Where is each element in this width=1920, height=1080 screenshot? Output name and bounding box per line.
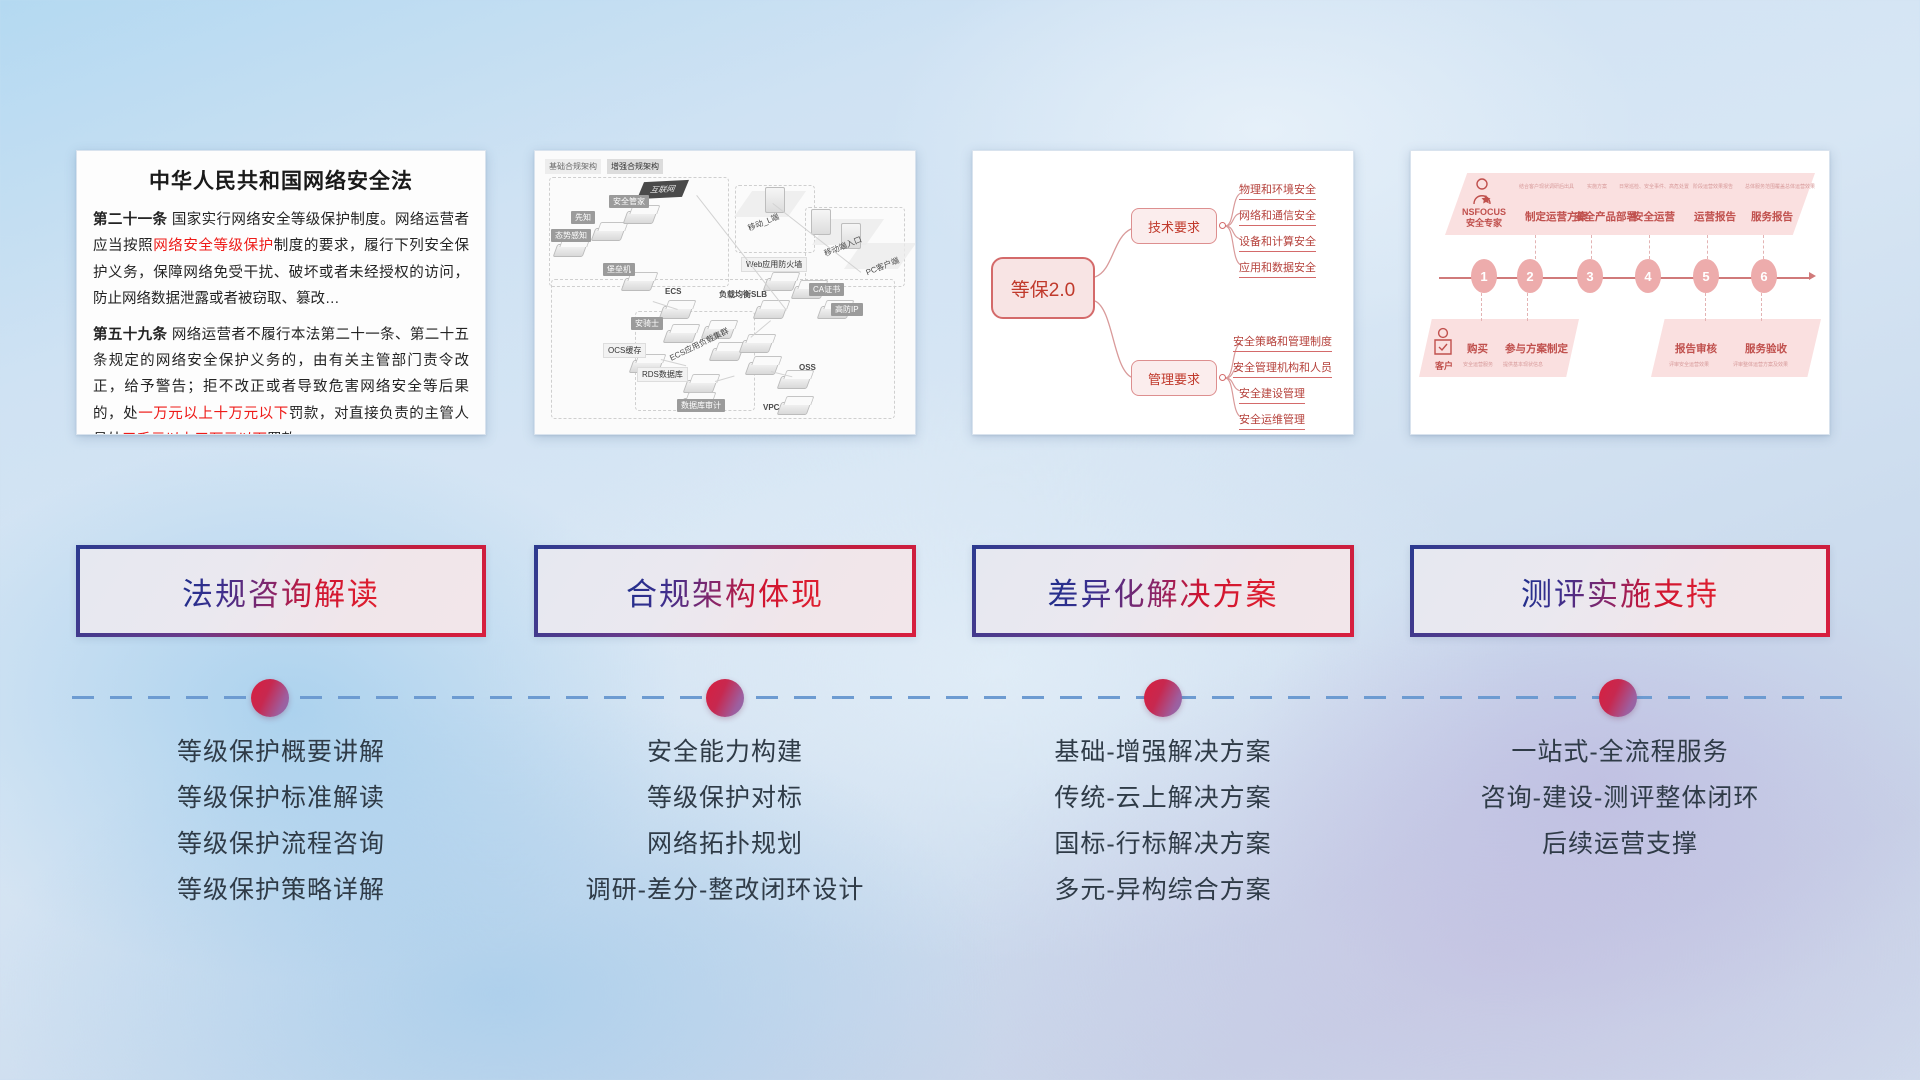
icon-ecs-node-c: [741, 333, 771, 355]
section-title-box-2[interactable]: 合规架构体现: [534, 545, 916, 637]
tab-basic-architecture[interactable]: 基础合规架构: [545, 159, 601, 174]
timeline-node-6[interactable]: 6: [1751, 259, 1777, 293]
label-ca-cert: CA证书: [809, 283, 844, 296]
mindmap-leaf-ops-mgmt: 安全运维管理: [1239, 411, 1305, 430]
timeline-dash-5: [1707, 235, 1708, 259]
timeline-bottom-sub-6: 评审整体运营方案及效果: [1733, 361, 1788, 368]
label-bastion-host: 堡垒机: [603, 263, 635, 276]
article-21-highlight: 网络安全等级保护: [153, 238, 274, 254]
timeline-top-sub-1: 结合客户现状调研后出具: [1519, 183, 1574, 190]
icon-foresight: [593, 221, 623, 243]
mindmap-leaf-build-mgmt: 安全建设管理: [1239, 385, 1305, 404]
list-item: 多元-异构综合方案: [972, 878, 1354, 903]
law-document: 中华人民共和国网络安全法 第二十一条 国家实行网络安全等级保护制度。网络运营者应…: [77, 151, 485, 435]
icon-oss: [779, 369, 809, 391]
section-title-box-4[interactable]: 测评实施支持: [1410, 545, 1830, 637]
label-oss: OSS: [799, 363, 816, 372]
timeline-marker-3[interactable]: [1144, 679, 1182, 717]
list-item: 基础-增强解决方案: [972, 740, 1354, 765]
label-db-audit: 数据库审计: [677, 399, 725, 412]
timeline-vendor-role: NSFOCUS 安全专家: [1451, 207, 1517, 230]
list-item: 调研-差分-整改闭环设计: [534, 878, 916, 903]
card-mindmap-dengbao[interactable]: 等保2.0 技术要求 物理和环境安全 网络和通信安全 设备和计算安全 应用和数据…: [972, 150, 1354, 435]
timeline-node-4[interactable]: 4: [1635, 259, 1661, 293]
expert-avatar-icon: [1469, 177, 1495, 207]
section-title-box-1[interactable]: 法规咨询解读: [76, 545, 486, 637]
label-foresight: 先知: [571, 211, 595, 224]
section-title-row: 法规咨询解读 合规架构体现 差异化解决方案 测评实施支持: [0, 545, 1920, 645]
timeline-bottom-sub-2: 提供基本现状信息: [1503, 361, 1543, 368]
timeline-bottom-sub-1: 安全运营服务: [1463, 361, 1493, 368]
mindmap-branch-management: 管理要求: [1131, 360, 1217, 396]
list-item: 国标-行标解决方案: [972, 832, 1354, 857]
timeline-marker-2[interactable]: [706, 679, 744, 717]
timeline-top-sub-4: 阶段运营效果报告: [1693, 183, 1733, 190]
label-rds: RDS数据库: [637, 367, 688, 382]
timeline-dash-2b: [1527, 293, 1528, 321]
service-timeline: NSFOCUS 安全专家 结合客户现状调研后出具 制定运营方案 实施方案 安全产…: [1411, 151, 1829, 434]
section-title-label-4: 测评实施支持: [1521, 569, 1719, 614]
article-59-label: 第五十九条: [93, 327, 167, 343]
timeline-bottom-title-5: 报告审核: [1675, 341, 1717, 356]
article-59-text-c: 罚款。: [267, 432, 311, 435]
timeline-arrow-icon: [1809, 272, 1816, 280]
list-item: 传统-云上解决方案: [972, 786, 1354, 811]
tab-enhanced-architecture[interactable]: 增强合规架构: [607, 159, 663, 174]
list-item: 等级保护策略详解: [76, 878, 486, 903]
timeline-dash-5b: [1705, 293, 1706, 321]
list-item: 咨询-建设-测评整体闭环: [1410, 786, 1830, 811]
timeline-top-sub-2: 实施方案: [1587, 183, 1607, 190]
list-item: 网络拓扑规划: [534, 832, 916, 857]
timeline-top-title-5: 服务报告: [1751, 209, 1793, 224]
timeline-bottom-title-1: 购买: [1467, 341, 1488, 356]
timeline-customer-role: 客户: [1429, 359, 1459, 372]
timeline-marker-1[interactable]: [251, 679, 289, 717]
detail-column-2: 安全能力构建 等级保护对标 网络拓扑规划 调研-差分-整改闭环设计: [534, 740, 916, 924]
card-cloud-architecture[interactable]: 基础合规架构 增强合规架构 互联网 态势感知 先知 安全管家: [534, 150, 916, 435]
label-vpc: VPC: [763, 403, 779, 412]
mindmap-leaf-network-comm: 网络和通信安全: [1239, 207, 1316, 226]
mindmap: 等保2.0 技术要求 物理和环境安全 网络和通信安全 设备和计算安全 应用和数据…: [973, 151, 1353, 434]
mindmap-knob-management[interactable]: [1219, 374, 1226, 381]
mindmap-branch-technical: 技术要求: [1131, 208, 1217, 244]
icon-ecs-node-b: [711, 341, 741, 363]
timeline-top-title-2: 安全产品部署: [1574, 209, 1637, 224]
list-item: 一站式-全流程服务: [1410, 740, 1830, 765]
list-item: 等级保护标准解读: [76, 786, 486, 811]
article-59-highlight-1: 一万元以上十万元以下: [138, 406, 289, 422]
mindmap-leaf-physical-env: 物理和环境安全: [1239, 181, 1316, 200]
mindmap-knob-technical[interactable]: [1219, 222, 1226, 229]
label-situation-awareness: 态势感知: [551, 229, 591, 242]
slide-root: 中华人民共和国网络安全法 第二十一条 国家实行网络安全等级保护制度。网络运营者应…: [0, 0, 1920, 1080]
article-59-highlight-2: 五千元以上五万元以下: [122, 432, 267, 435]
timeline-dash-6: [1763, 235, 1764, 259]
icon-vpc: [779, 395, 809, 417]
timeline-dash-6b: [1761, 293, 1762, 321]
article-21-label: 第二十一条: [93, 212, 167, 228]
timeline-node-1[interactable]: 1: [1471, 259, 1497, 293]
law-title: 中华人民共和国网络安全法: [93, 165, 469, 195]
timeline-node-2[interactable]: 2: [1517, 259, 1543, 293]
timeline-bottom-sub-5: 评审安全运营效果: [1669, 361, 1709, 368]
mindmap-leaf-org-personnel: 安全管理机构和人员: [1233, 359, 1332, 378]
timeline-top-sub-5: 总体服务范围覆盖总体运营效果: [1745, 183, 1815, 190]
mindmap-root: 等保2.0: [991, 257, 1095, 319]
detail-column-4: 一站式-全流程服务 咨询-建设-测评整体闭环 后续运营支撑: [1410, 740, 1830, 878]
label-anqishi: 安骑士: [631, 317, 663, 330]
list-item: 后续运营支撑: [1410, 832, 1830, 857]
timeline-dash-4: [1649, 235, 1650, 259]
mindmap-leaf-device-compute: 设备和计算安全: [1239, 233, 1316, 252]
card-service-timeline[interactable]: NSFOCUS 安全专家 结合客户现状调研后出具 制定运营方案 实施方案 安全产…: [1410, 150, 1830, 435]
vendor-role-line1: NSFOCUS: [1451, 207, 1517, 218]
timeline-dash-1b: [1481, 293, 1482, 321]
detail-column-3: 基础-增强解决方案 传统-云上解决方案 国标-行标解决方案 多元-异构综合方案: [972, 740, 1354, 924]
timeline-top-sub-3: 日常巡检、安全事件、高危处置: [1619, 183, 1689, 190]
label-ocs-cache: OCS缓存: [603, 343, 646, 358]
list-item: 安全能力构建: [534, 740, 916, 765]
label-security-butler: 安全管家: [609, 195, 649, 208]
timeline-bottom-title-2: 参与方案制定: [1505, 341, 1568, 356]
architecture-diagram: 基础合规架构 增强合规架构 互联网 态势感知 先知 安全管家: [535, 151, 915, 434]
section-title-label-1: 法规咨询解读: [182, 569, 380, 614]
vendor-role-line2: 安全专家: [1451, 218, 1517, 229]
timeline-node-5[interactable]: 5: [1693, 259, 1719, 293]
timeline-node-3[interactable]: 3: [1577, 259, 1603, 293]
timeline-marker-4[interactable]: [1599, 679, 1637, 717]
list-item: 等级保护概要讲解: [76, 740, 486, 765]
list-item: 等级保护对标: [534, 786, 916, 811]
icon-ecs-node-d: [747, 355, 777, 377]
timeline-top-title-3: 安全运营: [1633, 209, 1675, 224]
preview-card-row: 中华人民共和国网络安全法 第二十一条 国家实行网络安全等级保护制度。网络运营者应…: [0, 150, 1920, 440]
law-article-59: 第五十九条 网络运营者不履行本法第二十一条、第二十五条规定的网络安全保护义务的，…: [93, 322, 469, 436]
mindmap-leaf-app-data: 应用和数据安全: [1239, 259, 1316, 278]
card-cybersecurity-law[interactable]: 中华人民共和国网络安全法 第二十一条 国家实行网络安全等级保护制度。网络运营者应…: [76, 150, 486, 435]
timeline-bottom-title-6: 服务验收: [1745, 341, 1787, 356]
timeline-dash-2: [1535, 235, 1536, 259]
mindmap-leaf-policy-system: 安全策略和管理制度: [1233, 333, 1332, 352]
icon-mobile-entry: [811, 209, 831, 235]
timeline-dash-3: [1591, 235, 1592, 259]
detail-column-1: 等级保护概要讲解 等级保护标准解读 等级保护流程咨询 等级保护策略详解: [76, 740, 486, 924]
list-item: 等级保护流程咨询: [76, 832, 486, 857]
section-title-box-3[interactable]: 差异化解决方案: [972, 545, 1354, 637]
section-title-label-3: 差异化解决方案: [1048, 569, 1279, 614]
timeline-rail: [72, 696, 1848, 699]
label-slb: 负载均衡SLB: [719, 289, 767, 300]
timeline-top-title-4: 运营报告: [1694, 209, 1736, 224]
icon-ecs: [661, 299, 691, 321]
label-ecs: ECS: [665, 287, 681, 296]
section-title-label-2: 合规架构体现: [626, 569, 824, 614]
law-article-21: 第二十一条 国家实行网络安全等级保护制度。网络运营者应当按照网络安全等级保护制度…: [93, 207, 469, 313]
label-anti-ddos-ip: 高防IP: [831, 303, 863, 316]
customer-avatar-icon: [1433, 327, 1453, 357]
architecture-tabs: 基础合规架构 增强合规架构: [545, 159, 663, 174]
